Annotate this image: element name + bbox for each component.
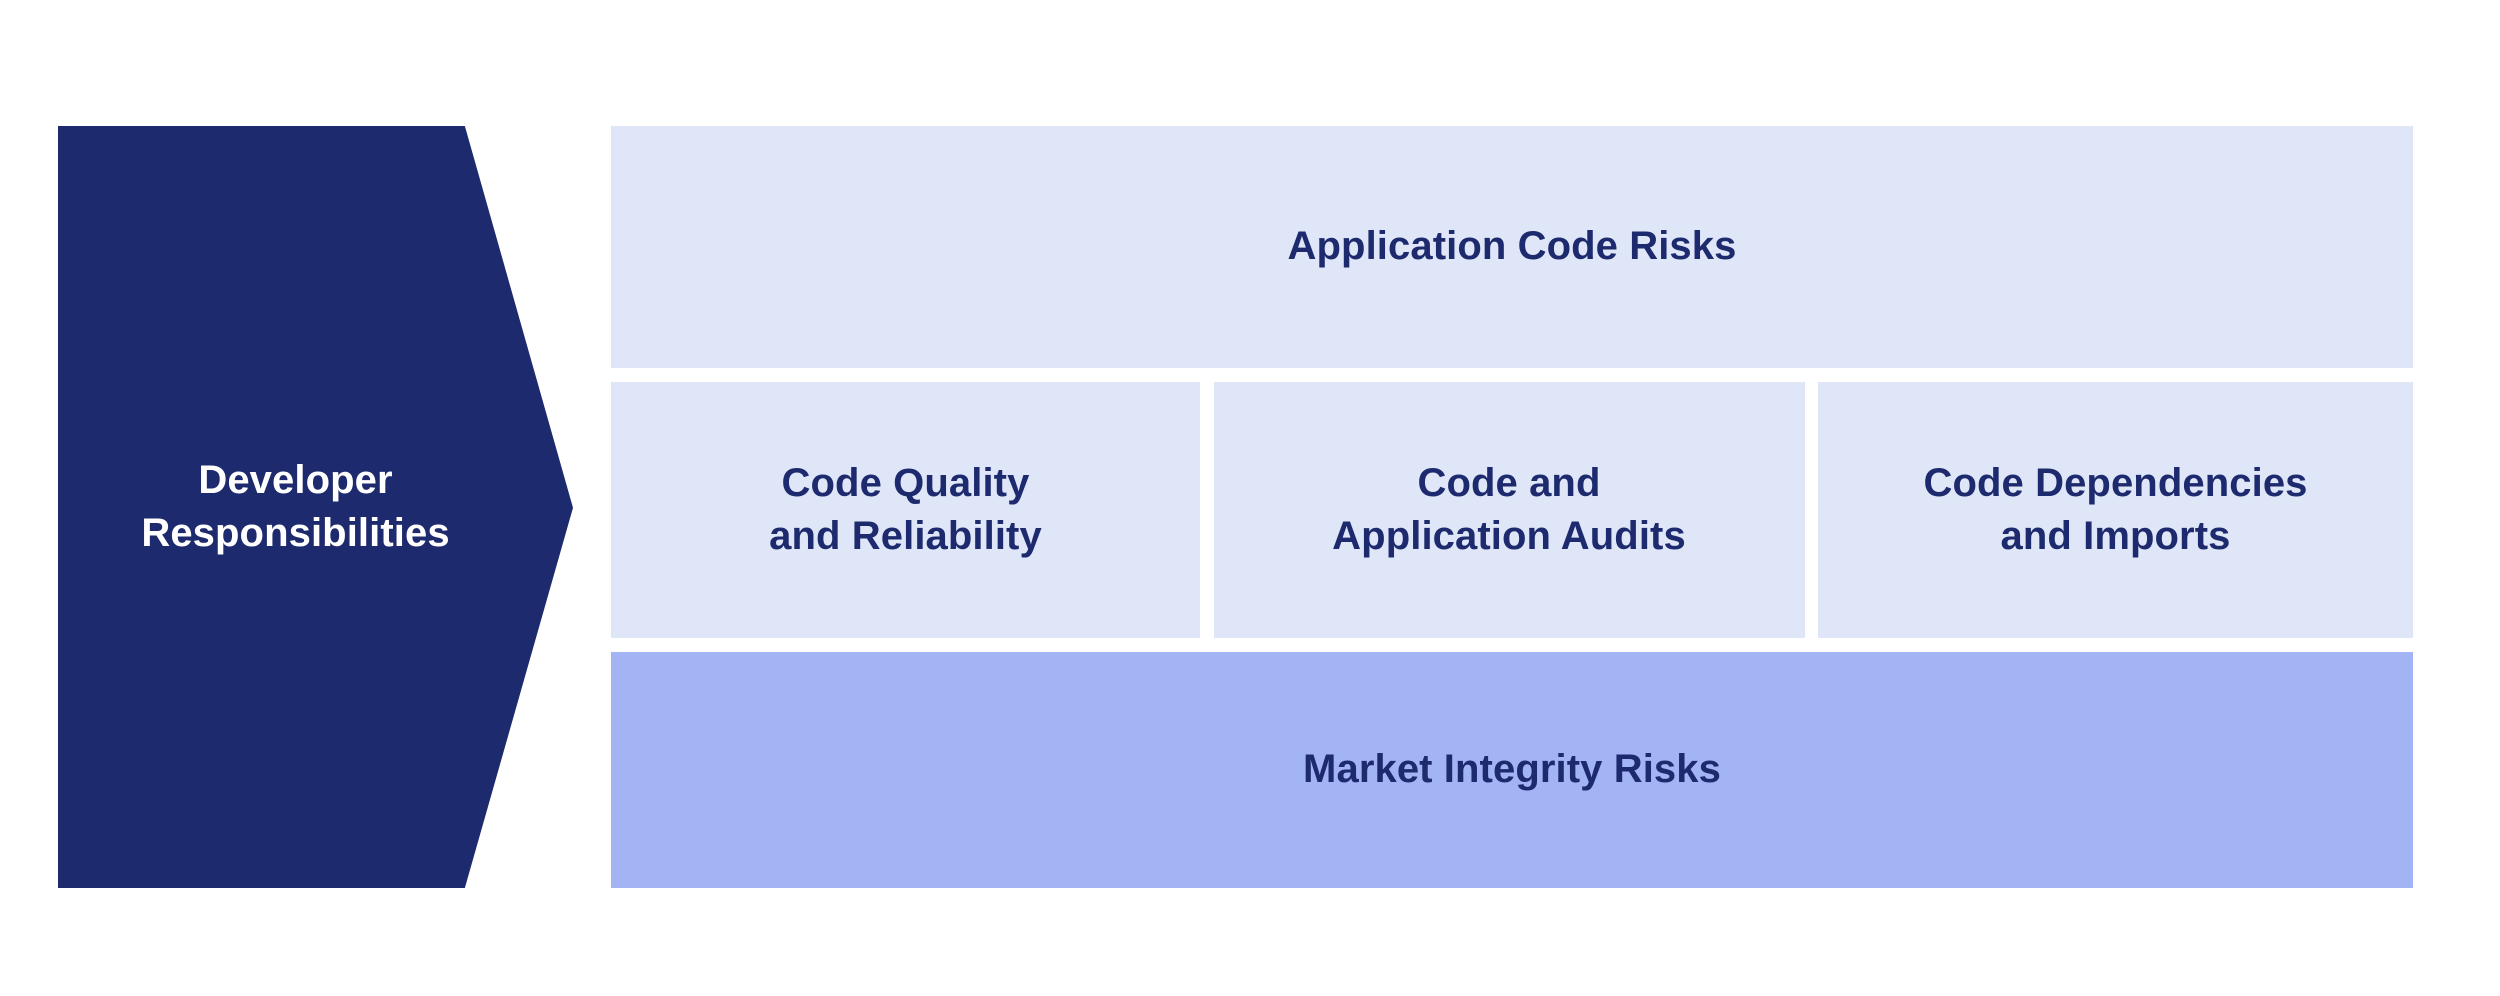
cell-code-dependencies-and-imports: Code Dependencies and Imports — [1818, 382, 2413, 638]
band-title-market-integrity-risks: Market Integrity Risks — [1303, 743, 1721, 796]
cell-title-code-and-application-audits: Code and Application Audits — [1332, 457, 1686, 563]
cell-title-line-1: Code Dependencies — [1923, 457, 2307, 510]
cell-title-line-1: Code and — [1332, 457, 1686, 510]
cell-code-quality-and-reliability: Code Quality and Reliability — [611, 382, 1200, 638]
callout-label: Developer Responsibilities — [96, 454, 496, 560]
cell-code-and-application-audits: Code and Application Audits — [1214, 382, 1805, 638]
developer-responsibilities-callout: Developer Responsibilities — [58, 126, 573, 888]
callout-label-line-1: Developer — [96, 454, 496, 507]
callout-label-line-2: Responsibilities — [96, 507, 496, 560]
cell-title-code-quality-and-reliability: Code Quality and Reliability — [769, 457, 1042, 563]
cell-title-line-2: and Reliability — [769, 510, 1042, 563]
cell-title-line-2: and Imports — [1923, 510, 2307, 563]
band-market-integrity-risks: Market Integrity Risks — [611, 652, 2413, 888]
cell-title-code-dependencies-and-imports: Code Dependencies and Imports — [1923, 457, 2307, 563]
band-title-application-code-risks: Application Code Risks — [1288, 220, 1737, 273]
band-application-code-risks: Application Code Risks — [611, 126, 2413, 368]
cell-title-line-2: Application Audits — [1332, 510, 1686, 563]
cell-title-line-1: Code Quality — [769, 457, 1042, 510]
risk-bands-stack: Application Code Risks Code Quality and … — [611, 126, 2413, 888]
band-subcategories: Code Quality and Reliability Code and Ap… — [611, 382, 2413, 638]
diagram-canvas: Developer Responsibilities Application C… — [0, 0, 2500, 996]
